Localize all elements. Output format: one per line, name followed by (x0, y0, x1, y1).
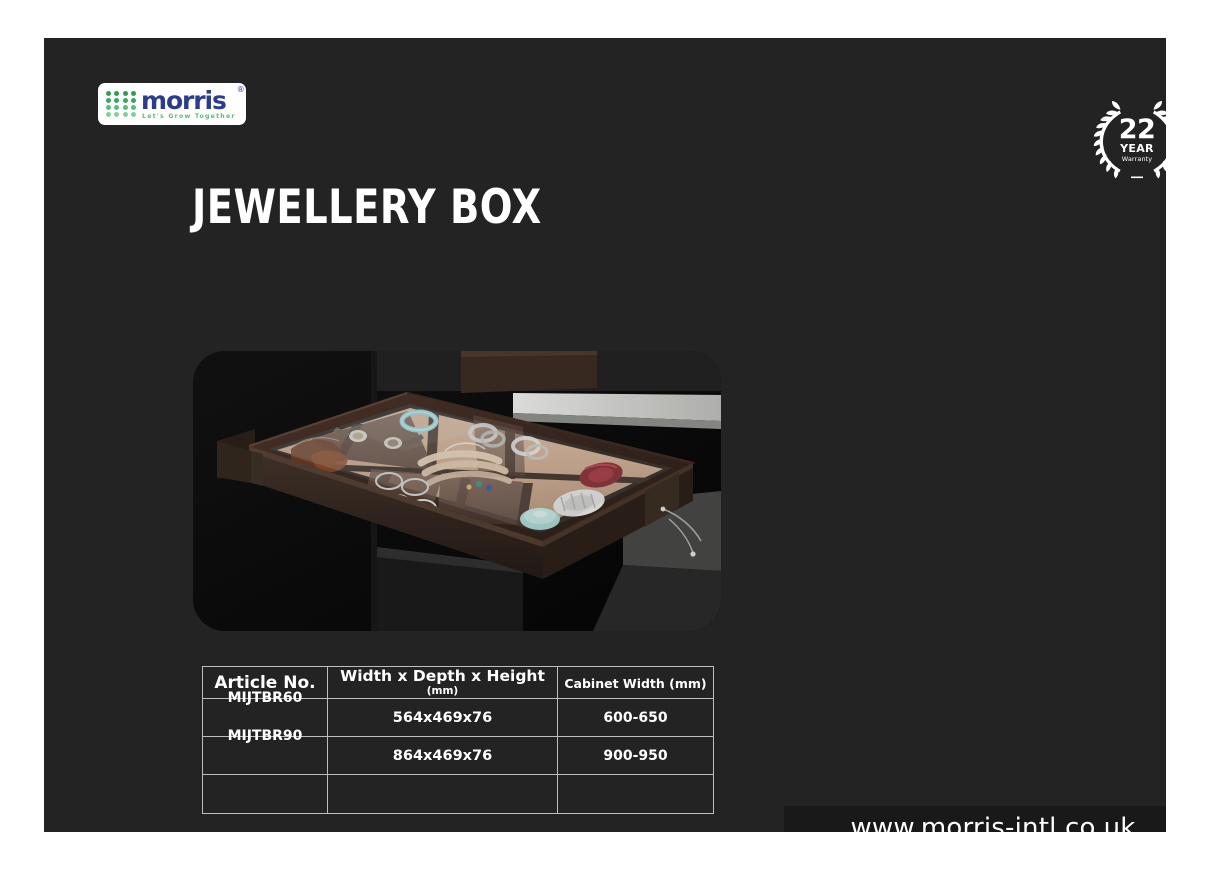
logo-tagline: Let's Grow Together (142, 114, 236, 120)
cell-dimensions: 564x469x76 (328, 699, 558, 737)
cell-cabinet-width: 900-950 (558, 737, 714, 775)
website-url-bar[interactable]: www.morris-intl.co.uk (784, 806, 1166, 832)
cell-cabinet-width: 600-650 (558, 699, 714, 737)
spacer-cell (328, 775, 558, 814)
table-row-spacer (203, 775, 714, 814)
registered-trademark-icon: ® (237, 86, 245, 94)
website-url: www.morris-intl.co.uk (850, 813, 1135, 832)
dark-panel: morris ® Let's Grow Together (44, 38, 1166, 832)
page-title: JEWELLERY BOX (192, 180, 542, 235)
cell-dimensions: 864x469x76 (328, 737, 558, 775)
morris-logo[interactable]: morris ® Let's Grow Together (98, 83, 246, 125)
spacer-cell (558, 775, 714, 814)
column-header-dimensions: Width x Depth x Height (mm) (328, 667, 558, 699)
jewellery-box-drawer-photo (193, 351, 721, 631)
logo-text: morris ® Let's Grow Together (141, 88, 236, 120)
spacer-cell (203, 775, 328, 814)
logo-dot-grid-icon (106, 91, 137, 117)
logo-wordmark: morris (141, 88, 236, 113)
warranty-badge: 22 YEAR Warranty (1091, 100, 1166, 180)
specification-table: Article No. Width x Depth x Height (mm) … (202, 666, 714, 814)
page-root: morris ® Let's Grow Together (0, 0, 1209, 869)
cell-article-no: MIJTBR90 (203, 737, 328, 775)
laurel-wreath-icon (1091, 100, 1166, 180)
table-row: MIJTBR90 864x469x76 900-950 (203, 737, 714, 775)
table-body: MIJTBR60 564x469x76 600-650 MIJTBR90 864… (203, 699, 714, 814)
column-header-cabinet-width: Cabinet Width (mm) (558, 667, 714, 699)
product-image (193, 351, 721, 631)
